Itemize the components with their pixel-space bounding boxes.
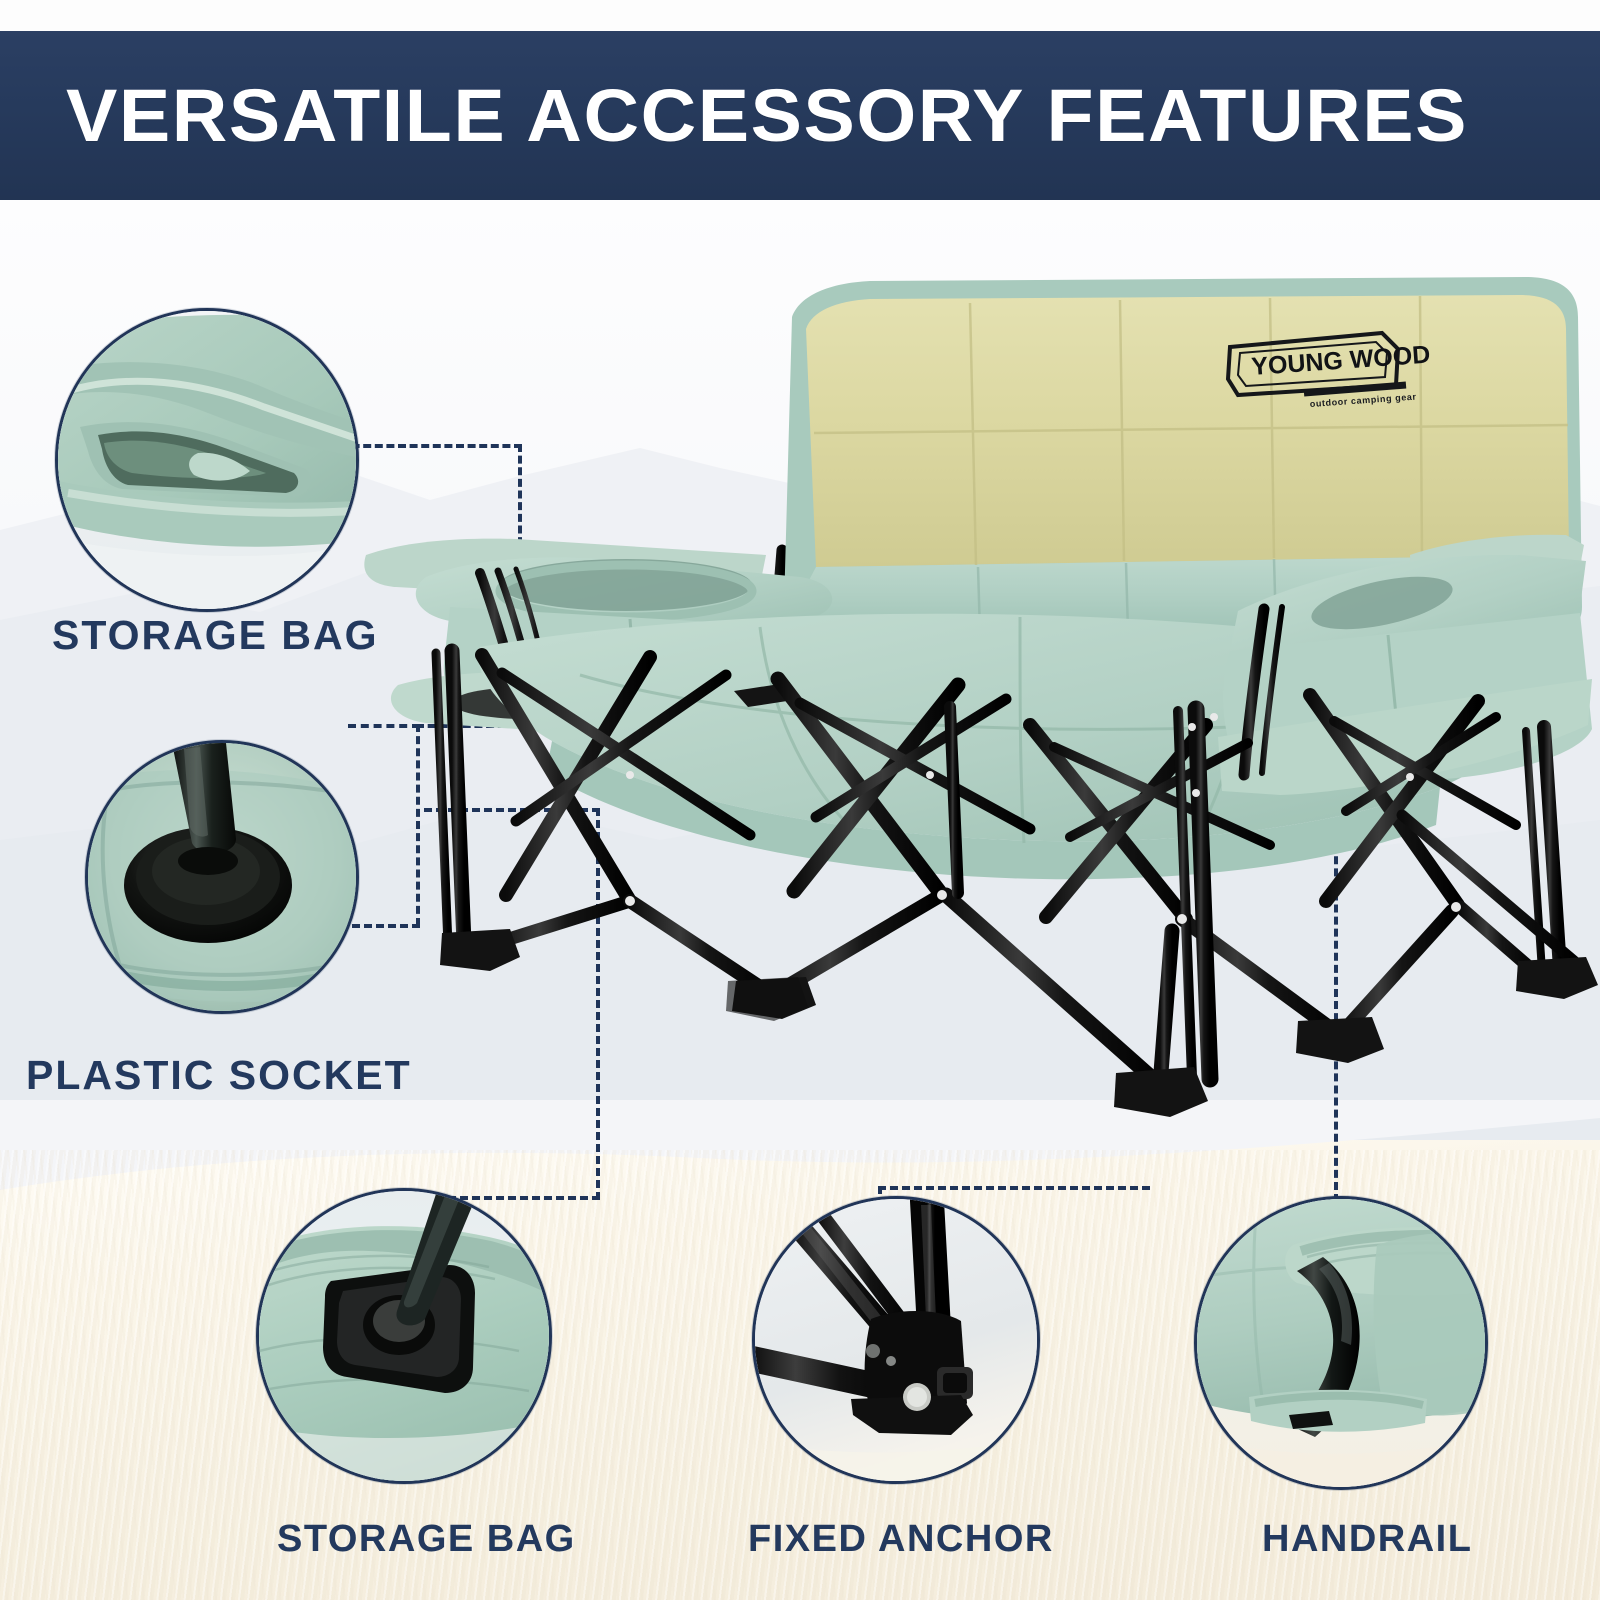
- callout-circle-storage-bag-top: [55, 308, 359, 612]
- callout-label-plastic-socket: PLASTIC SOCKET: [26, 1052, 412, 1099]
- foot-hub-center-right: [1114, 1067, 1208, 1117]
- page-title: VERSATILE ACCESSORY FEATURES: [66, 73, 1468, 158]
- header-banner: VERSATILE ACCESSORY FEATURES: [0, 31, 1600, 200]
- callout-circle-handrail: [1194, 1196, 1488, 1490]
- infographic-canvas: VERSATILE ACCESSORY FEATURES: [0, 0, 1600, 1600]
- foot-hub-center: [726, 977, 808, 1021]
- callout-label-storage-bag-bottom: STORAGE BAG: [277, 1518, 576, 1561]
- foot-hub-right: [1296, 1017, 1384, 1063]
- callout-circle-fixed-anchor: [752, 1196, 1040, 1484]
- foot-hub-far-right: [1516, 957, 1598, 999]
- callout-circle-plastic-socket: [85, 740, 359, 1014]
- callout-circle-storage-bag-bottom: [256, 1188, 552, 1484]
- callout-label-handrail: HANDRAIL: [1262, 1518, 1472, 1561]
- callout-label-storage-bag-top: STORAGE BAG: [52, 612, 379, 659]
- handrail-side-pocket: [1374, 1232, 1485, 1415]
- callout-label-fixed-anchor: FIXED ANCHOR: [748, 1518, 1054, 1561]
- foot-hub-left: [440, 929, 520, 971]
- connector-fixed-anchor-horizontal: [878, 1186, 1150, 1190]
- product-image-camping-loveseat: YOUNG WOOD outdoor camping gear: [330, 255, 1600, 1125]
